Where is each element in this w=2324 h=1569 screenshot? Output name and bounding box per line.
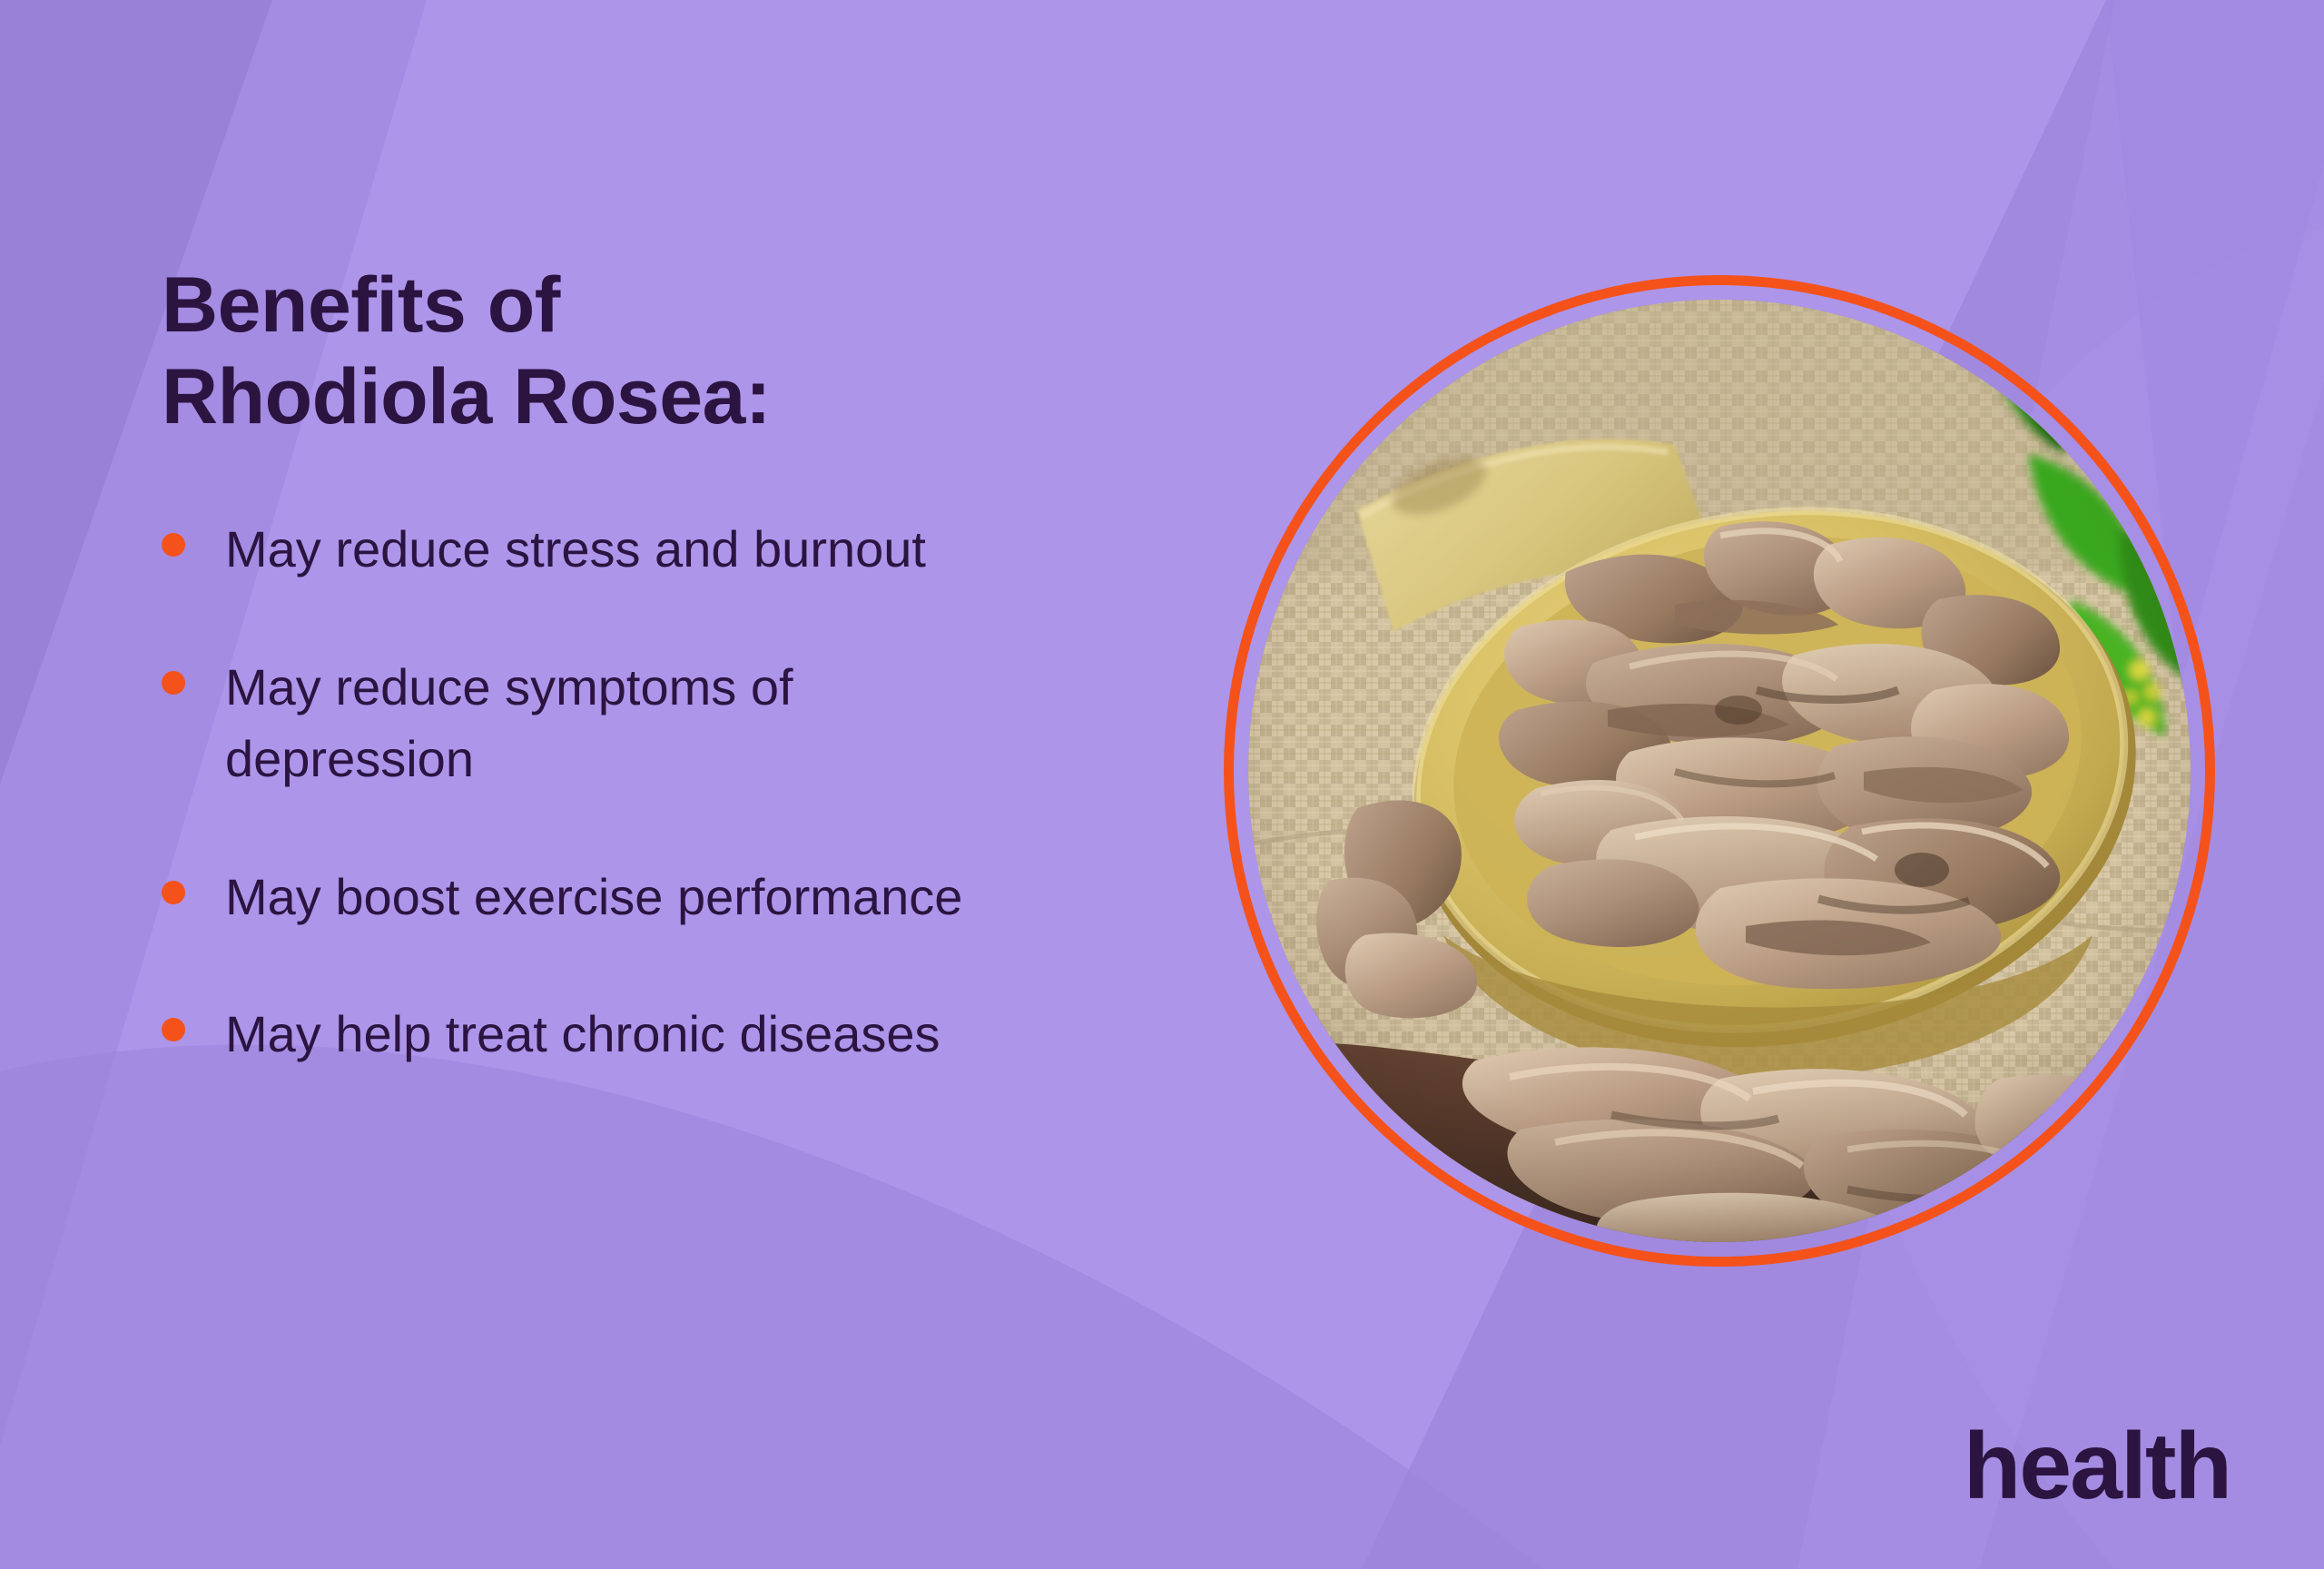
bullet-dot-icon [162,1018,185,1041]
infographic-card: Benefits of Rhodiola Rosea: May reduce s… [0,0,2324,1569]
text-column: Benefits of Rhodiola Rosea: May reduce s… [162,260,1178,1071]
bullet-dot-icon [162,533,185,557]
list-item: May help treat chronic diseases [162,998,1178,1071]
page-title: Benefits of Rhodiola Rosea: [162,260,1178,442]
benefit-text: May reduce symptoms of depression [225,651,793,795]
list-item: May reduce stress and burnout [162,513,1178,586]
bullet-dot-icon [162,881,185,904]
benefits-list: May reduce stress and burnout May reduce… [162,513,1178,1071]
benefit-text: May help treat chronic diseases [225,998,940,1071]
list-item: May reduce symptoms of depression [162,651,1178,795]
bullet-dot-icon [162,671,185,695]
photo-circle [1224,275,2215,1267]
list-item: May boost exercise performance [162,861,1178,933]
benefit-text: May reduce stress and burnout [225,513,926,586]
benefit-text: May boost exercise performance [225,861,962,933]
rhodiola-root-photo [1248,300,2191,1242]
health-logo: health [1964,1419,2230,1514]
